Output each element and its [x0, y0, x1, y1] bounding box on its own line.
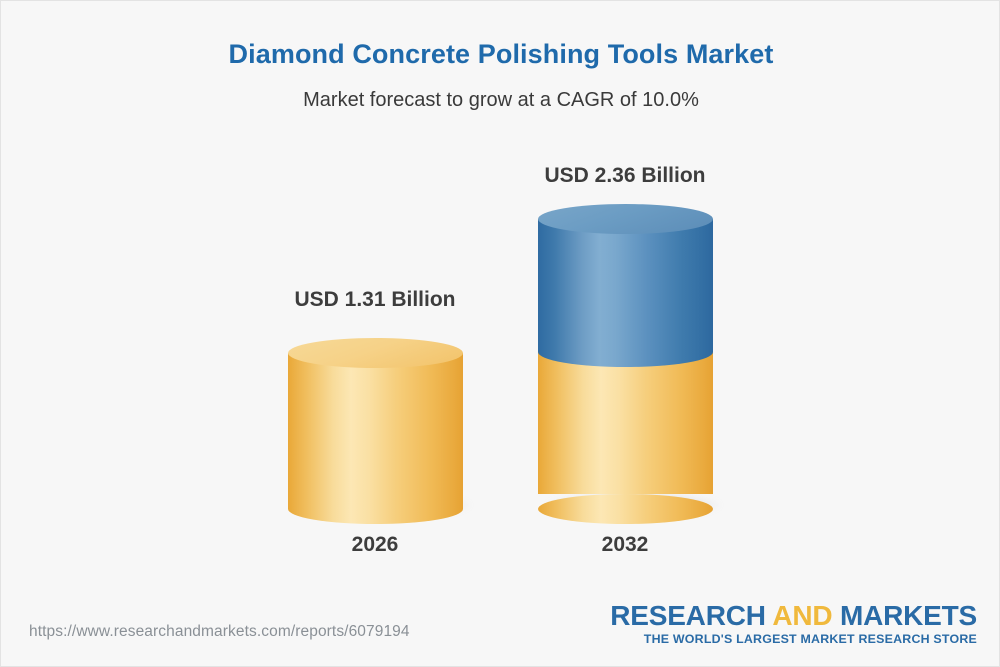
source-url[interactable]: https://www.researchandmarkets.com/repor…	[29, 623, 410, 641]
bar-cylinder-2026	[288, 338, 463, 509]
bar-value-label-2032: USD 2.36 Billion	[465, 164, 785, 188]
bar-segment-base-2026	[288, 353, 463, 509]
brand-tagline: THE WORLD'S LARGEST MARKET RESEARCH STOR…	[610, 632, 977, 647]
bar-value-label-2026: USD 1.31 Billion	[215, 288, 535, 312]
bar-segment-body	[538, 349, 713, 494]
bar-cylinder-2032	[538, 204, 713, 509]
brand-wordmark: RESEARCH AND MARKETS	[610, 601, 977, 630]
page-title: Diamond Concrete Polishing Tools Market	[1, 39, 1000, 70]
bar-segment-body	[288, 353, 463, 509]
chart-subtitle: Market forecast to grow at a CAGR of 10.…	[1, 89, 1000, 112]
bar-top-cap-2032	[538, 204, 713, 234]
bar-top-cap-2026	[288, 338, 463, 368]
bar-bottom-edge-2032	[538, 494, 713, 524]
brand-logo: RESEARCH AND MARKETS THE WORLD'S LARGEST…	[610, 601, 977, 647]
bar-segment-boundary-2032	[538, 337, 713, 367]
bar-category-label-2032: 2032	[465, 533, 785, 557]
brand-wordmark-and: AND	[772, 600, 832, 631]
bar-segment-growth-2032	[538, 219, 713, 352]
infographic-canvas: Diamond Concrete Polishing Tools Market …	[0, 0, 1000, 667]
bar-segment-base-2032	[538, 349, 713, 494]
brand-wordmark-part1: RESEARCH	[610, 600, 772, 631]
bar-segment-body	[538, 219, 713, 352]
brand-wordmark-part2: MARKETS	[832, 600, 977, 631]
